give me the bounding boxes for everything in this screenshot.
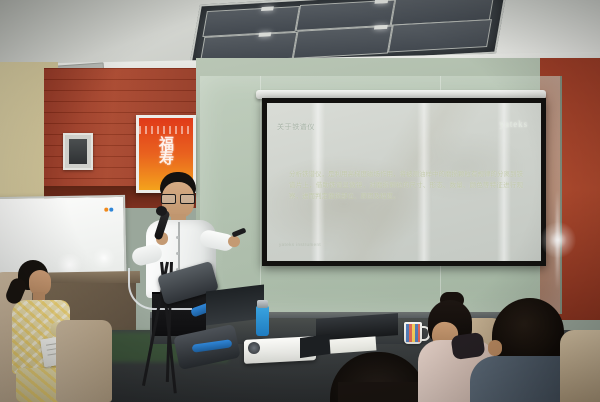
presentation-room-photo: 福寿 关于铁谱仪 yateks 分析铁谱仪，是利用高梯度磁场作用，将被测油样中的… bbox=[0, 0, 600, 402]
chair-far-right bbox=[560, 330, 600, 402]
audience-man-head bbox=[492, 298, 564, 364]
microphone-head-icon bbox=[156, 206, 167, 216]
shirt-button bbox=[176, 236, 179, 239]
ceiling-light-strip bbox=[258, 32, 271, 37]
ceiling-tile bbox=[388, 19, 492, 52]
wall-mounted-control-panel[interactable] bbox=[63, 133, 93, 170]
audience-back-shoulders-left bbox=[338, 382, 422, 402]
projection-screen-frame: 关于铁谱仪 yateks 分析铁谱仪，是利用高梯度磁场作用，将被测油样中的磨损颗… bbox=[262, 98, 546, 266]
glasses-icon bbox=[161, 194, 195, 202]
glass-seam bbox=[260, 76, 261, 314]
shirt-button bbox=[176, 252, 179, 255]
audience-woman-collar bbox=[450, 332, 485, 360]
glass-light-streak bbox=[556, 190, 559, 290]
projector-side-shadow bbox=[300, 334, 330, 358]
bottle-cap bbox=[257, 300, 268, 308]
slide-brand-logo: yateks bbox=[500, 119, 528, 129]
whiteboard-logo-icon bbox=[103, 206, 115, 213]
slide-title: 关于铁谱仪 bbox=[277, 122, 315, 132]
poster-dot-pattern bbox=[139, 126, 193, 134]
chair-left-second bbox=[56, 320, 112, 402]
ceiling-light-strip bbox=[261, 6, 274, 11]
slide-footer-text: yateks instrument bbox=[279, 242, 321, 247]
ceiling-light-strip bbox=[374, 25, 388, 30]
projector-lens-icon bbox=[248, 342, 260, 354]
blue-water-bottle bbox=[256, 306, 269, 336]
projection-screen-surface: 关于铁谱仪 yateks 分析铁谱仪，是利用高梯度磁场作用，将被测油样中的磨损颗… bbox=[267, 103, 541, 261]
poster-calligraphy: 福寿 bbox=[153, 137, 180, 165]
mug-pattern bbox=[406, 324, 420, 342]
audience-man-ear bbox=[488, 340, 502, 356]
slide-body-text: 分析铁谱仪，是利用高梯度磁场作用，将被测油样中的磨损颗粒有规律的分离到铁谱片上，… bbox=[289, 169, 523, 202]
ceiling-tile bbox=[293, 26, 393, 59]
